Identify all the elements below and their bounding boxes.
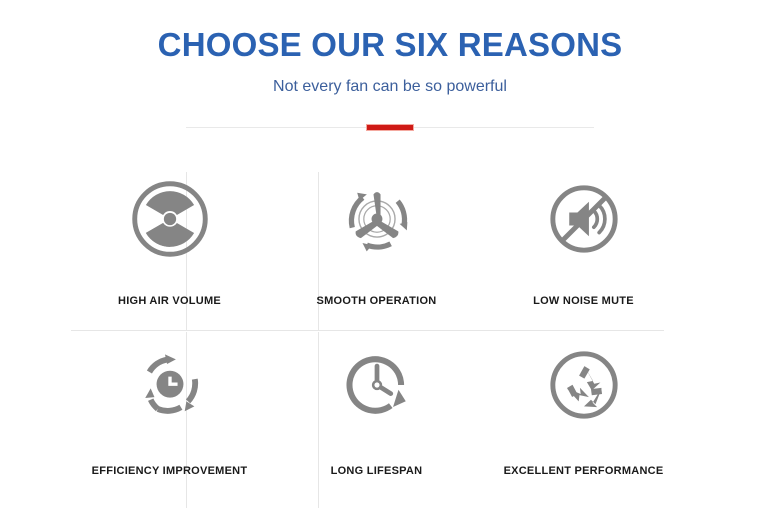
feature-label: EXCELLENT PERFORMANCE [485, 440, 682, 478]
feature-cell-long-lifespan[interactable]: LONG LIFESPAN [278, 330, 475, 508]
feature-grid: HIGH AIR VOLUME [71, 166, 664, 511]
feature-row-bottom: EFFICIENCY IMPROVEMENT LONG LIFESPAN [71, 330, 664, 508]
feature-row-top: HIGH AIR VOLUME [71, 166, 664, 330]
radiation-icon [71, 166, 268, 271]
fan-rotation-icon [278, 166, 475, 271]
feature-cell-efficiency-improvement[interactable]: EFFICIENCY IMPROVEMENT [71, 330, 268, 508]
feature-label: EFFICIENCY IMPROVEMENT [71, 440, 268, 478]
page-title: CHOOSE OUR SIX REASONS [0, 0, 780, 64]
feature-label: SMOOTH OPERATION [278, 271, 475, 308]
feature-cell-low-noise-mute[interactable]: LOW NOISE MUTE [485, 166, 682, 330]
feature-label: LOW NOISE MUTE [485, 271, 682, 308]
feature-cell-high-air-volume[interactable]: HIGH AIR VOLUME [71, 166, 268, 330]
page-subtitle: Not every fan can be so powerful [0, 64, 780, 97]
feature-cell-excellent-performance[interactable]: EXCELLENT PERFORMANCE [485, 330, 682, 508]
header-divider [186, 124, 594, 132]
divider-accent-bar [366, 124, 414, 131]
speaker-muted-icon [485, 166, 682, 271]
feature-cell-smooth-operation[interactable]: SMOOTH OPERATION [278, 166, 475, 330]
clock-arrows-icon [71, 330, 268, 440]
page-header: CHOOSE OUR SIX REASONS Not every fan can… [0, 0, 780, 97]
feature-highlights-page: CHOOSE OUR SIX REASONS Not every fan can… [0, 0, 780, 526]
clock-arrow-icon [278, 330, 475, 440]
recycle-icon [485, 330, 682, 440]
feature-label: HIGH AIR VOLUME [71, 271, 268, 308]
feature-label: LONG LIFESPAN [278, 440, 475, 478]
